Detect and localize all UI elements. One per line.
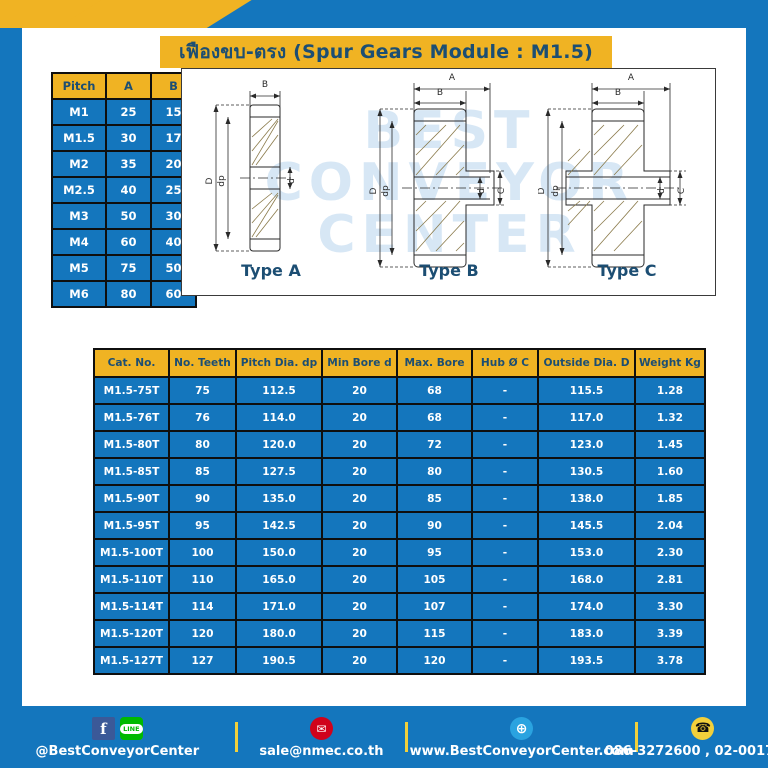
pitch-table-row: M57550	[53, 256, 195, 280]
contact-footer: fLINE@BestConveyorCenter✉sale@nmec.co.th…	[0, 706, 768, 768]
pitch-table-row: M2.54025	[53, 178, 195, 202]
pitch-table-row: M23520	[53, 152, 195, 176]
dimension-label-d-outside: D	[369, 187, 379, 194]
spec-cell: 138.0	[539, 486, 634, 511]
spec-cell: 110	[170, 567, 235, 592]
table-row: M1.5-80T80120.02072-123.01.45	[95, 432, 704, 457]
spec-cell: 2.30	[636, 540, 704, 565]
footer-contact-item[interactable]: fLINE@BestConveyorCenter	[0, 716, 235, 759]
main-table-header-row: Cat. No.No. TeethPitch Dia. dpMin Bore d…	[95, 350, 704, 376]
footer-icon-group: ✉	[310, 716, 333, 742]
pitch-cell: 80	[107, 282, 150, 306]
pitch-cell: M4	[53, 230, 105, 254]
spec-cell: 20	[323, 432, 396, 457]
spec-cell: 20	[323, 459, 396, 484]
spec-cell: 3.39	[636, 621, 704, 646]
spec-cell: 1.28	[636, 378, 704, 403]
drawing-type-b: A B D dp d C Type B	[360, 69, 538, 296]
spec-cell: M1.5-110T	[95, 567, 168, 592]
spec-cell: 135.0	[237, 486, 321, 511]
page-title-bar: เฟืองขบ-ตรง (Spur Gears Module : M1.5)	[160, 36, 612, 68]
content-sheet: เฟืองขบ-ตรง (Spur Gears Module : M1.5) P…	[22, 28, 746, 706]
spec-cell: 153.0	[539, 540, 634, 565]
dimension-label-d-bore: d	[477, 188, 487, 194]
pitch-cell: 35	[107, 152, 150, 176]
dimension-label-d-bore: d	[657, 188, 667, 194]
spec-header-5: Hub Ø C	[473, 350, 537, 376]
dimension-label-d-bore: d	[287, 178, 297, 184]
footer-contact-label: 086-3272600 , 02-0017766	[605, 744, 768, 759]
spec-cell: M1.5-80T	[95, 432, 168, 457]
footer-icon-group: fLINE	[92, 716, 143, 742]
spec-cell: 145.5	[539, 513, 634, 538]
spec-cell: 20	[323, 540, 396, 565]
footer-contact-item[interactable]: ☎086-3272600 , 02-0017766	[638, 716, 768, 759]
spec-cell: -	[473, 405, 537, 430]
spec-cell: 20	[323, 405, 396, 430]
spec-cell: 85	[170, 459, 235, 484]
spec-header-7: Weight Kg	[636, 350, 704, 376]
spec-cell: 120	[170, 621, 235, 646]
spec-cell: 165.0	[237, 567, 321, 592]
pitch-cell: M2	[53, 152, 105, 176]
spec-cell: -	[473, 567, 537, 592]
pitch-table-row: M1.53017	[53, 126, 195, 150]
spec-sheet-page: เฟืองขบ-ตรง (Spur Gears Module : M1.5) P…	[0, 0, 768, 768]
table-row: M1.5-120T120180.020115-183.03.39	[95, 621, 704, 646]
table-row: M1.5-100T100150.02095-153.02.30	[95, 540, 704, 565]
spec-cell: -	[473, 378, 537, 403]
spec-cell: 142.5	[237, 513, 321, 538]
spec-cell: M1.5-90T	[95, 486, 168, 511]
spec-cell: M1.5-76T	[95, 405, 168, 430]
spec-cell: M1.5-114T	[95, 594, 168, 619]
spec-cell: M1.5-75T	[95, 378, 168, 403]
spec-cell: 68	[398, 405, 471, 430]
dimension-label-c-hub: C	[677, 188, 687, 194]
spec-cell: 114	[170, 594, 235, 619]
phone-icon[interactable]: ☎	[691, 717, 714, 740]
spec-cell: -	[473, 594, 537, 619]
footer-contact-label: www.BestConveyorCenter.com	[410, 744, 634, 759]
spec-header-4: Max. Bore	[398, 350, 471, 376]
spec-cell: 112.5	[237, 378, 321, 403]
spec-cell: -	[473, 621, 537, 646]
dimension-label-dp: dp	[217, 175, 227, 187]
spec-cell: 76	[170, 405, 235, 430]
footer-contact-label: @BestConveyorCenter	[36, 744, 200, 759]
spec-cell: 120	[398, 648, 471, 673]
pitch-header-1: A	[107, 74, 150, 98]
spec-cell: 1.32	[636, 405, 704, 430]
dimension-label-dp: dp	[551, 185, 561, 197]
type-a-label: Type A	[182, 261, 360, 280]
spec-cell: 190.5	[237, 648, 321, 673]
spec-cell: 127	[170, 648, 235, 673]
dimension-label-b: B	[615, 88, 621, 98]
spec-cell: 115	[398, 621, 471, 646]
spec-cell: 120.0	[237, 432, 321, 457]
pitch-cell: M2.5	[53, 178, 105, 202]
spec-cell: 100	[170, 540, 235, 565]
table-row: M1.5-85T85127.52080-130.51.60	[95, 459, 704, 484]
spec-cell: 20	[323, 594, 396, 619]
spec-cell: 85	[398, 486, 471, 511]
page-title: เฟืองขบ-ตรง (Spur Gears Module : M1.5)	[179, 37, 593, 67]
spec-cell: 20	[323, 567, 396, 592]
spec-cell: M1.5-85T	[95, 459, 168, 484]
pitch-table-row: M12515	[53, 100, 195, 124]
footer-contact-item[interactable]: ✉sale@nmec.co.th	[238, 716, 406, 759]
dimension-label-d-outside: D	[538, 187, 547, 194]
table-row: M1.5-127T127190.520120-193.53.78	[95, 648, 704, 673]
spec-cell: -	[473, 513, 537, 538]
spec-cell: 168.0	[539, 567, 634, 592]
spec-header-6: Outside Dia. D	[539, 350, 634, 376]
spec-cell: 20	[323, 648, 396, 673]
pitch-table-body: M12515M1.53017M23520M2.54025M35030M46040…	[53, 100, 195, 306]
pitch-table-row: M68060	[53, 282, 195, 306]
spec-cell: 90	[398, 513, 471, 538]
spec-header-0: Cat. No.	[95, 350, 168, 376]
line-icon[interactable]: LINE	[120, 717, 143, 740]
spec-cell: 123.0	[539, 432, 634, 457]
spec-cell: 1.85	[636, 486, 704, 511]
spec-cell: 171.0	[237, 594, 321, 619]
dimension-label-b: B	[437, 88, 443, 98]
pitch-cell: 50	[107, 204, 150, 228]
spec-header-1: No. Teeth	[170, 350, 235, 376]
dimension-label-b: B	[262, 80, 268, 90]
spec-cell: 114.0	[237, 405, 321, 430]
spec-cell: 174.0	[539, 594, 634, 619]
table-row: M1.5-110T110165.020105-168.02.81	[95, 567, 704, 592]
pitch-cell: M1.5	[53, 126, 105, 150]
pitch-table-row: M46040	[53, 230, 195, 254]
footer-icon-group: ☎	[691, 716, 714, 742]
type-c-label: Type C	[538, 261, 716, 280]
website-icon[interactable]: ⊕	[510, 717, 533, 740]
table-row: M1.5-114T114171.020107-174.03.30	[95, 594, 704, 619]
spec-cell: -	[473, 540, 537, 565]
pitch-cell: M3	[53, 204, 105, 228]
spec-cell: 127.5	[237, 459, 321, 484]
dimension-label-d-outside: D	[205, 177, 215, 184]
facebook-icon[interactable]: f	[92, 717, 115, 740]
spec-cell: 20	[323, 513, 396, 538]
dimension-label-dp: dp	[381, 185, 391, 197]
spec-cell: 80	[398, 459, 471, 484]
pitch-table-row: M35030	[53, 204, 195, 228]
spec-cell: M1.5-100T	[95, 540, 168, 565]
gear-type-drawings-panel: BEST CONVEYOR CENTER	[181, 68, 716, 296]
main-table-body: M1.5-75T75112.52068-115.51.28M1.5-76T761…	[95, 378, 704, 673]
spec-cell: 107	[398, 594, 471, 619]
gear-specification-table: Cat. No.No. TeethPitch Dia. dpMin Bore d…	[93, 348, 706, 675]
spec-cell: 75	[170, 378, 235, 403]
spec-cell: M1.5-120T	[95, 621, 168, 646]
spec-cell: -	[473, 432, 537, 457]
type-b-label: Type B	[360, 261, 538, 280]
spec-cell: 20	[323, 378, 396, 403]
spec-cell: 105	[398, 567, 471, 592]
spec-cell: 2.04	[636, 513, 704, 538]
spec-cell: 20	[323, 486, 396, 511]
spec-cell: 95	[170, 513, 235, 538]
pitch-cell: M6	[53, 282, 105, 306]
pitch-reference-table: PitchAB M12515M1.53017M23520M2.54025M350…	[51, 72, 197, 308]
spec-cell: 117.0	[539, 405, 634, 430]
spec-cell: 1.60	[636, 459, 704, 484]
spec-cell: 1.45	[636, 432, 704, 457]
spec-cell: 95	[398, 540, 471, 565]
spec-cell: 72	[398, 432, 471, 457]
pitch-cell: M5	[53, 256, 105, 280]
pitch-cell: 25	[107, 100, 150, 124]
spec-cell: 115.5	[539, 378, 634, 403]
spec-cell: M1.5-95T	[95, 513, 168, 538]
pitch-cell: M1	[53, 100, 105, 124]
table-row: M1.5-95T95142.52090-145.52.04	[95, 513, 704, 538]
pitch-table-header-row: PitchAB	[53, 74, 195, 98]
spec-cell: 68	[398, 378, 471, 403]
pitch-cell: 75	[107, 256, 150, 280]
spec-cell: 180.0	[237, 621, 321, 646]
pitch-cell: 30	[107, 126, 150, 150]
table-row: M1.5-76T76114.02068-117.01.32	[95, 405, 704, 430]
footer-contact-label: sale@nmec.co.th	[259, 744, 383, 759]
dimension-label-a: A	[449, 73, 456, 83]
pitch-header-0: Pitch	[53, 74, 105, 98]
footer-contact-item[interactable]: ⊕www.BestConveyorCenter.com	[408, 716, 635, 759]
spec-header-3: Min Bore d	[323, 350, 396, 376]
table-row: M1.5-75T75112.52068-115.51.28	[95, 378, 704, 403]
email-icon[interactable]: ✉	[310, 717, 333, 740]
spec-cell: 183.0	[539, 621, 634, 646]
spec-cell: 193.5	[539, 648, 634, 673]
drawing-type-a: B D dp d Type A	[182, 69, 360, 296]
footer-icon-group: ⊕	[510, 716, 533, 742]
spec-cell: -	[473, 648, 537, 673]
spec-cell: 20	[323, 621, 396, 646]
dimension-label-a: A	[628, 73, 635, 83]
spec-cell: -	[473, 486, 537, 511]
drawing-type-c: A B D dp d C Type C	[538, 69, 716, 296]
pitch-cell: 60	[107, 230, 150, 254]
spec-header-2: Pitch Dia. dp	[237, 350, 321, 376]
spec-cell: 90	[170, 486, 235, 511]
spec-cell: 130.5	[539, 459, 634, 484]
spec-cell: 150.0	[237, 540, 321, 565]
spec-cell: -	[473, 459, 537, 484]
spec-cell: 3.30	[636, 594, 704, 619]
spec-cell: 3.78	[636, 648, 704, 673]
spec-cell: 80	[170, 432, 235, 457]
spec-cell: M1.5-127T	[95, 648, 168, 673]
dimension-label-c-hub: C	[497, 188, 507, 194]
pitch-cell: 40	[107, 178, 150, 202]
spec-cell: 2.81	[636, 567, 704, 592]
table-row: M1.5-90T90135.02085-138.01.85	[95, 486, 704, 511]
